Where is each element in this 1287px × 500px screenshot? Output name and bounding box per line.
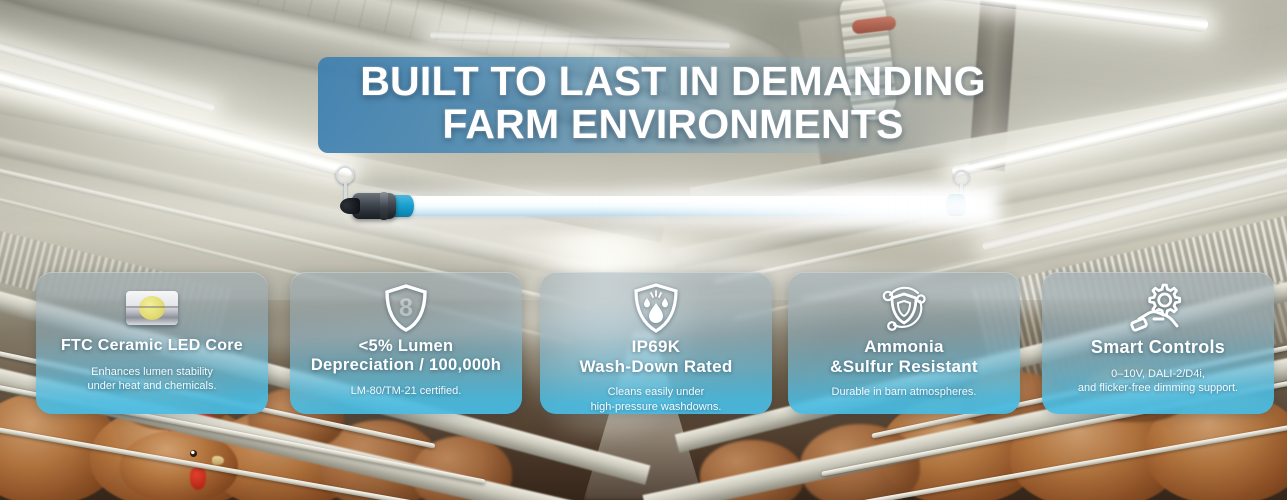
card-subtitle: Cleans easily under high-pressure washdo…: [583, 385, 730, 414]
card-subtitle: LM-80/TM-21 certified.: [343, 384, 470, 399]
tube-light-glow: [600, 186, 1000, 228]
card-title: Ammonia &Sulfur Resistant: [824, 337, 984, 376]
feature-card-row: FTC Ceramic LED Core Enhances lumen stab…: [0, 272, 1287, 416]
chicken-beak: [212, 456, 224, 465]
feature-card-lumen-depreciation[interactable]: 8 <5% Lumen Depreciation / 100,000h LM-8…: [290, 272, 522, 414]
svg-text:8: 8: [399, 294, 413, 322]
page-title: BUILT TO LAST IN DEMANDING FARM ENVIRONM…: [360, 60, 986, 147]
feature-card-ammonia-sulfur-resistant[interactable]: Ammonia &Sulfur Resistant Durable in bar…: [788, 272, 1020, 414]
chicken-eye: [190, 450, 197, 457]
promo-banner: BUILT TO LAST IN DEMANDING FARM ENVIRONM…: [0, 0, 1287, 500]
shield-molecule-icon: [876, 281, 932, 335]
card-title: Smart Controls: [1085, 337, 1231, 358]
card-subtitle: Enhances lumen stability under heat and …: [79, 365, 224, 394]
tube-connector: [340, 198, 360, 214]
led-tube-product-image: [300, 172, 1000, 238]
headline-banner: BUILT TO LAST IN DEMANDING FARM ENVIRONM…: [318, 57, 1018, 153]
led-chip-icon: [124, 281, 180, 335]
card-subtitle: Durable in barn atmospheres.: [824, 385, 985, 400]
shield-water-droplets-icon: [628, 281, 684, 335]
card-title: FTC Ceramic LED Core: [55, 337, 249, 356]
tube-end-cap-ring: [380, 192, 388, 220]
feature-card-smart-controls[interactable]: Smart Controls 0–10V, DALI-2/D4i, and fl…: [1042, 272, 1274, 414]
card-title: <5% Lumen Depreciation / 100,000h: [305, 337, 507, 375]
card-title: IP69K Wash-Down Rated: [573, 337, 738, 376]
feature-card-ftc-ceramic-led-core[interactable]: FTC Ceramic LED Core Enhances lumen stab…: [36, 272, 268, 414]
card-subtitle: 0–10V, DALI-2/D4i, and flicker-free dimm…: [1070, 367, 1246, 396]
feature-card-ip69k-washdown[interactable]: IP69K Wash-Down Rated Cleans easily unde…: [540, 272, 772, 414]
gear-in-hand-icon: [1130, 281, 1186, 335]
shield-8-icon: 8: [378, 281, 434, 335]
chicken-wattle: [190, 468, 206, 490]
